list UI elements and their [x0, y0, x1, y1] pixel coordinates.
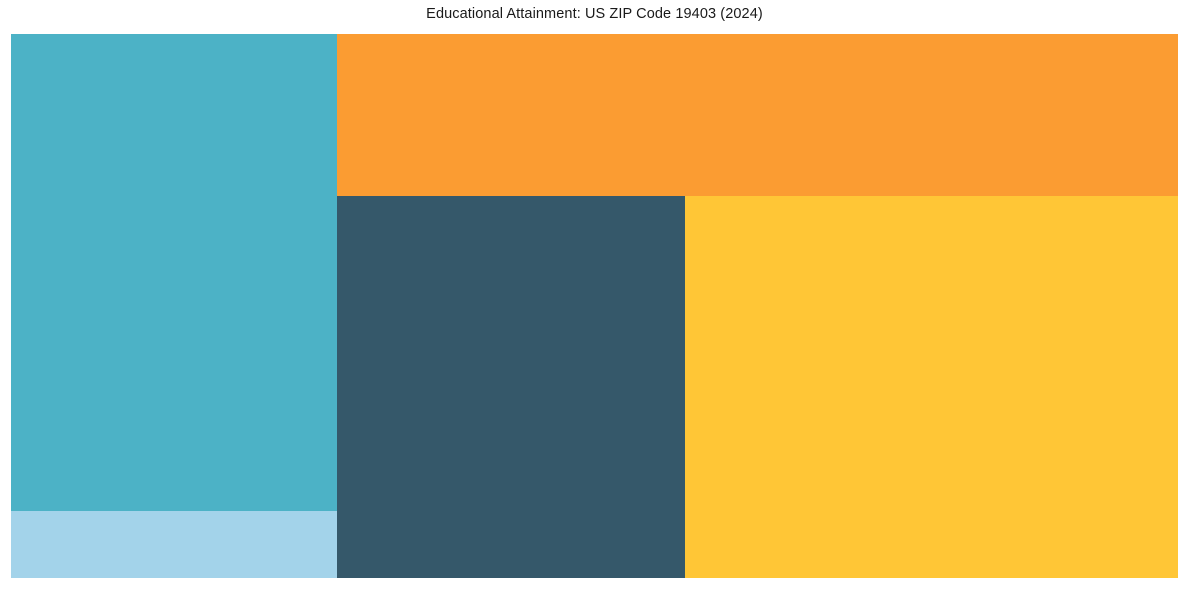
treemap-tile-associate-degree[interactable]: Associate Degree [685, 196, 1178, 578]
treemap-tile-bachelors-degree[interactable]: Bachelor's Degree [11, 34, 337, 511]
treemap-figure: Educational Attainment: US ZIP Code 1940… [0, 0, 1189, 590]
treemap-tile-high-school-graduate[interactable]: High School Graduate [337, 34, 1178, 196]
treemap-tile-some-college-no-degree[interactable]: Some College, No Degree [337, 196, 685, 578]
treemap-plot-area: Bachelor's Degree Graduate or Profession… [11, 34, 1178, 578]
treemap-tile-graduate-or-professional-degree[interactable]: Graduate or Professional Degree [11, 511, 337, 578]
chart-title: Educational Attainment: US ZIP Code 1940… [0, 6, 1189, 22]
